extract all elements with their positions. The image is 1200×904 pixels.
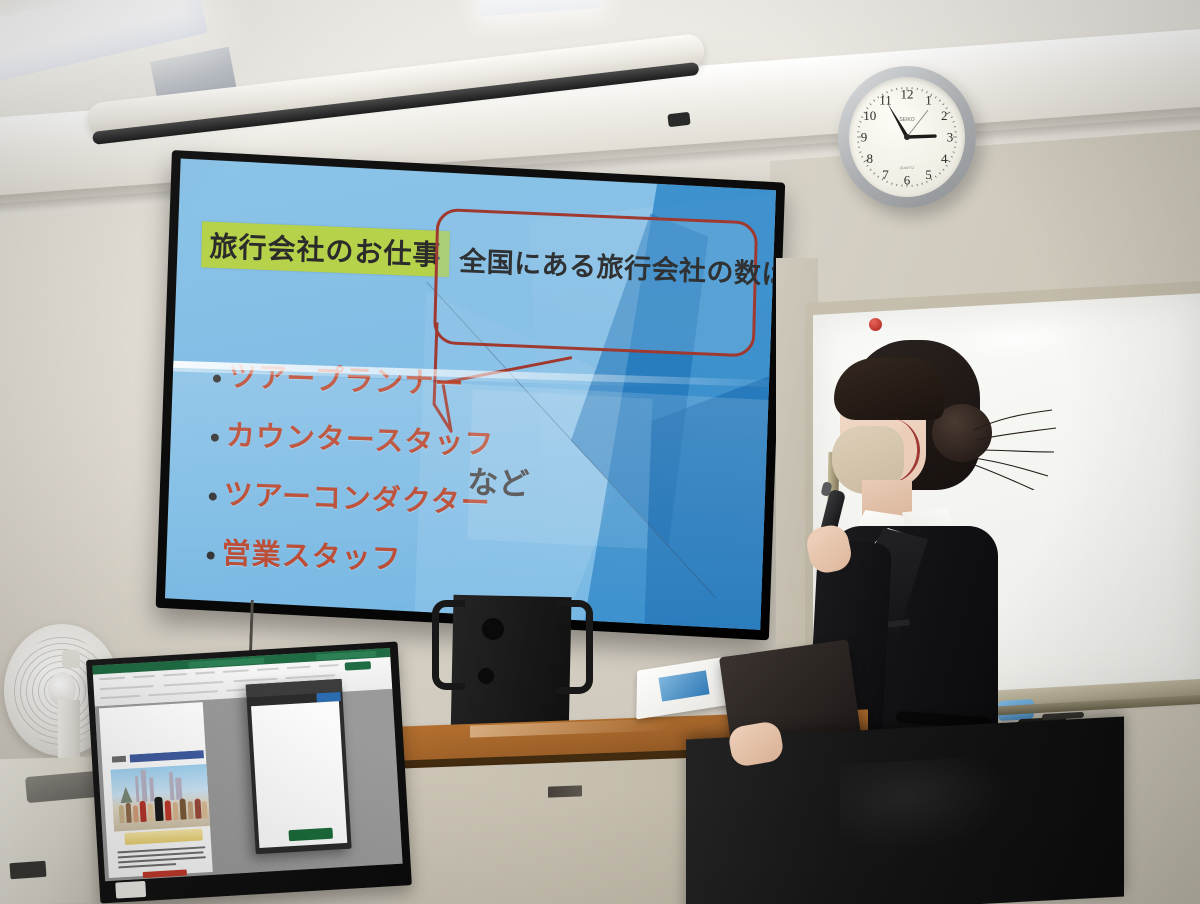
flyer-title <box>112 750 204 764</box>
tv-stand-arm-right <box>556 600 593 694</box>
clock-numeral: 4 <box>941 151 948 166</box>
monitor-screen[interactable] <box>92 648 402 881</box>
clock-numeral: 9 <box>861 130 868 145</box>
slide-etc-label: など <box>467 457 530 504</box>
svg-text:QUARTZ: QUARTZ <box>900 166 916 170</box>
clock-hour-hand <box>907 136 935 137</box>
flyer-point-banner <box>124 828 203 845</box>
electric-fan-knob <box>62 650 80 668</box>
bullet-label: カウンタースタッフ <box>226 412 495 463</box>
bullet-dot-icon <box>207 551 215 559</box>
clock-numeral: 11 <box>879 92 892 107</box>
tv-screen-slide: 旅行会社のお仕事 全国にある旅行会社の数は ツアープランナー カウンタースタッフ <box>165 158 776 629</box>
bullet-label: ツアープランナー <box>228 353 465 403</box>
clock-numeral: 10 <box>863 108 876 123</box>
bullet-dot-icon <box>211 433 219 441</box>
tv-stand-arm-left <box>432 600 465 690</box>
booking-page-body[interactable] <box>251 701 347 848</box>
clock-dial: 121234567891011 SEIKO QUARTZ <box>849 77 965 197</box>
clock-numeral: 7 <box>882 167 889 182</box>
desk-brand-plate <box>548 785 582 797</box>
desktop-monitor[interactable] <box>86 641 412 903</box>
tv-stand-hole <box>482 618 504 640</box>
bullet-label: ツアーコンダクター <box>223 471 491 522</box>
bullet-item: カウンタースタッフ <box>211 411 631 467</box>
cabinet-label <box>9 861 46 879</box>
tv-stand-hole <box>478 668 494 684</box>
bullet-label: 営業スタッフ <box>221 530 402 578</box>
clock-numeral: 2 <box>941 108 948 123</box>
slide-bullet-list: ツアープランナー カウンタースタッフ ツアーコンダクター 営業スタッフ <box>205 348 633 606</box>
monitor-asset-sticker <box>115 881 146 899</box>
wall-clock: 121234567891011 SEIKO QUARTZ <box>838 66 976 208</box>
clock-numeral: 3 <box>947 130 954 145</box>
wall-mounted-tv: 旅行会社のお仕事 全国にある旅行会社の数は ツアープランナー カウンタースタッフ <box>156 150 786 640</box>
bullet-dot-icon <box>209 492 217 500</box>
clock-second-hand <box>906 110 928 138</box>
clock-numeral: 8 <box>867 151 874 166</box>
clock-numeral: 1 <box>925 92 932 107</box>
excel-share-button[interactable] <box>345 661 371 671</box>
presenter-fringe <box>834 358 944 420</box>
bullet-item: 営業スタッフ <box>206 529 626 585</box>
flyer-document <box>99 702 213 878</box>
slide-heading-highlight: 旅行会社のお仕事 <box>201 221 450 277</box>
podium-sheen <box>840 756 1010 855</box>
projector-screen-knob <box>667 112 690 127</box>
bullet-item: ツアーコンダクター <box>209 470 629 526</box>
bullet-dot-icon <box>213 374 221 382</box>
clock-brand: SEIKO <box>899 117 914 123</box>
flyer-hero-image <box>111 764 211 832</box>
classroom-scene: 121234567891011 SEIKO QUARTZ 旅行会社のお仕事 <box>0 0 1200 904</box>
slide-heading: 旅行会社のお仕事 <box>209 230 442 272</box>
presenter-hair-wisps <box>960 400 1070 490</box>
clock-center-pin <box>904 134 910 140</box>
clock-numeral: 5 <box>925 167 932 182</box>
